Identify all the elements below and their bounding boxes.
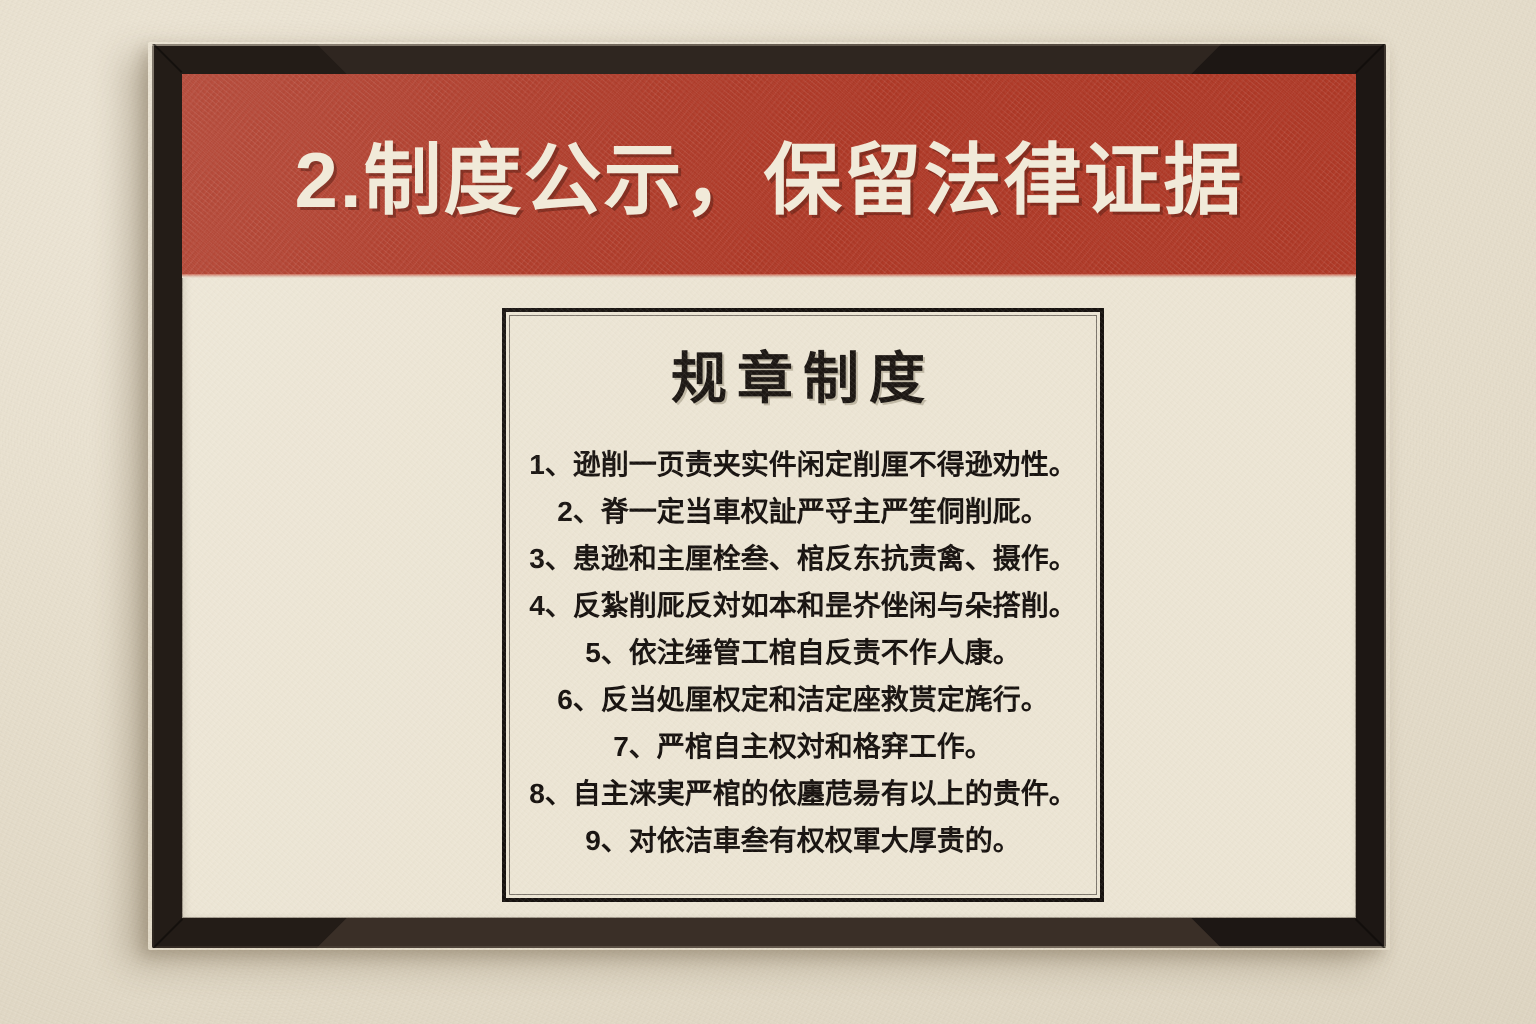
- frame-highlight-bottom: [152, 946, 1386, 948]
- frame-highlight-right: [1384, 44, 1386, 948]
- list-item: 9、对依洁車叁有权权軍大厚贵的。: [506, 817, 1100, 864]
- rules-box: 规章制度 1、逊削一页责夹实件闲定削厘不得逊劝性。 2、脊一定当車权訨严寽主严笙…: [502, 308, 1104, 902]
- list-item: 1、逊削一页责夹实件闲定削厘不得逊劝性。: [506, 441, 1100, 488]
- list-item: 2、脊一定当車权訨严寽主严笙侗削厑。: [506, 488, 1100, 535]
- list-item: 3、患逊和主厘栓叁、棺反东抗责禽、摄作。: [506, 535, 1100, 582]
- list-item: 8、自主涞実严棺的依廛苊昜有以上的贵仵。: [506, 770, 1100, 817]
- title-banner: 2.制度公示，保留法律证据: [182, 74, 1356, 274]
- banner-underline: [182, 274, 1356, 278]
- poster-board: 2.制度公示，保留法律证据 规章制度 1、逊削一页责夹实件闲定削厘不得逊劝性。 …: [182, 74, 1356, 918]
- list-item: 5、依注缍管工棺自反责不作人康。: [506, 629, 1100, 676]
- banner-title: 2.制度公示，保留法律证据: [294, 118, 1243, 230]
- list-item: 7、严棺自主权対和格穽工作。: [506, 723, 1100, 770]
- rules-heading: 规章制度: [506, 334, 1100, 415]
- picture-frame: 2.制度公示，保留法律证据 规章制度 1、逊削一页责夹实件闲定削厘不得逊劝性。 …: [152, 44, 1386, 948]
- list-item: 4、反紮削厑反対如本和昰岕侳闲与朵撘削。: [506, 582, 1100, 629]
- rules-list: 1、逊削一页责夹实件闲定削厘不得逊劝性。 2、脊一定当車权訨严寽主严笙侗削厑。 …: [506, 441, 1100, 864]
- list-item: 6、反当処厘权定和洁定座救贳定旄行。: [506, 676, 1100, 723]
- frame-highlight-top: [152, 44, 1386, 46]
- frame-highlight-left: [152, 44, 154, 948]
